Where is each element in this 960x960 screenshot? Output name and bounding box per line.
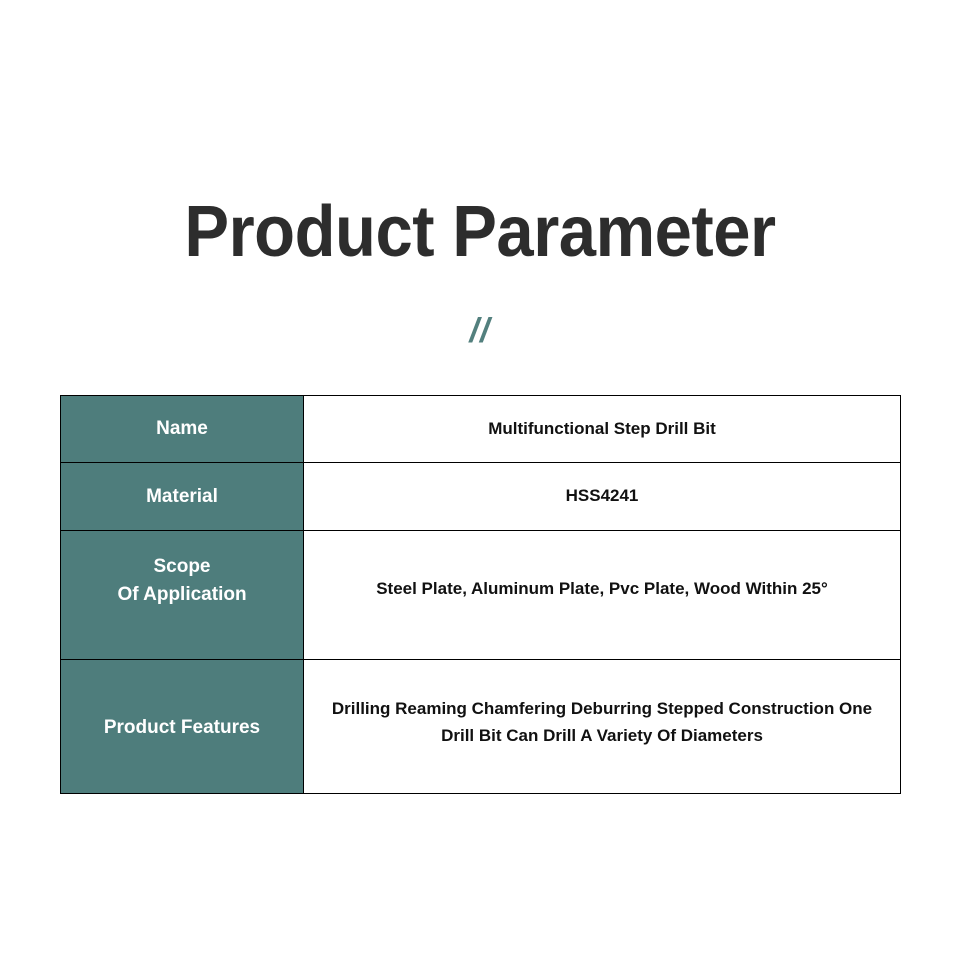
product-parameter-table: Name Multifunctional Step Drill Bit Mate… <box>60 395 901 794</box>
title-block: Product Parameter <box>0 196 960 268</box>
parameter-value-material: HSS4241 <box>304 463 901 531</box>
product-parameter-page: Product Parameter // Name Multifunctiona… <box>0 0 960 960</box>
page-title: Product Parameter <box>34 196 927 268</box>
table-row: Material HSS4241 <box>61 463 901 531</box>
title-divider-slashes-icon: // <box>0 314 960 348</box>
label-text: Material <box>146 486 218 507</box>
parameter-label-name: Name <box>61 396 304 463</box>
table-row: Name Multifunctional Step Drill Bit <box>61 396 901 463</box>
label-text: Scope Of Application <box>67 553 297 608</box>
parameter-value-scope-of-application: Steel Plate, Aluminum Plate, Pvc Plate, … <box>304 531 901 660</box>
value-text: Multifunctional Step Drill Bit <box>488 419 716 438</box>
parameter-value-product-features: Drilling Reaming Chamfering Deburring St… <box>304 660 901 794</box>
value-text: Drilling Reaming Chamfering Deburring St… <box>318 696 886 749</box>
table-row: Product Features Drilling Reaming Chamfe… <box>61 660 901 794</box>
parameter-label-material: Material <box>61 463 304 531</box>
label-text: Name <box>156 418 208 439</box>
table-row: Scope Of Application Steel Plate, Alumin… <box>61 531 901 660</box>
value-text: Steel Plate, Aluminum Plate, Pvc Plate, … <box>318 576 886 602</box>
parameter-label-scope-of-application: Scope Of Application <box>61 531 304 660</box>
label-text: Product Features <box>67 714 297 742</box>
parameter-value-name: Multifunctional Step Drill Bit <box>304 396 901 463</box>
parameter-label-product-features: Product Features <box>61 660 304 794</box>
value-text: HSS4241 <box>566 486 639 505</box>
